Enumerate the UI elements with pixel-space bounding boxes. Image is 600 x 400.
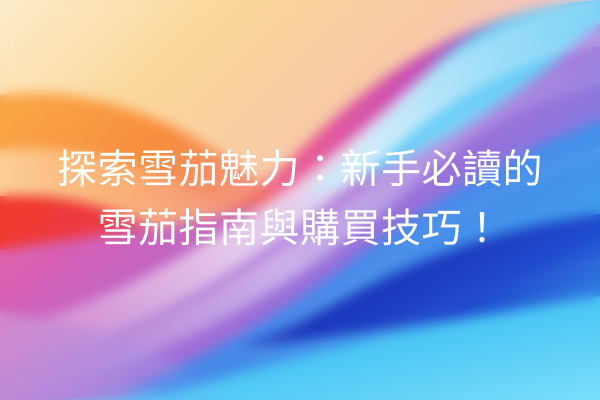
headline-line-1: 探索雪茄魅力：新手必讀的 bbox=[57, 142, 543, 199]
banner-hero: 探索雪茄魅力：新手必讀的 雪茄指南與購買技巧！ bbox=[0, 0, 600, 400]
headline-line-2: 雪茄指南與購買技巧！ bbox=[98, 201, 503, 258]
banner-headline: 探索雪茄魅力：新手必讀的 雪茄指南與購買技巧！ bbox=[0, 0, 600, 400]
